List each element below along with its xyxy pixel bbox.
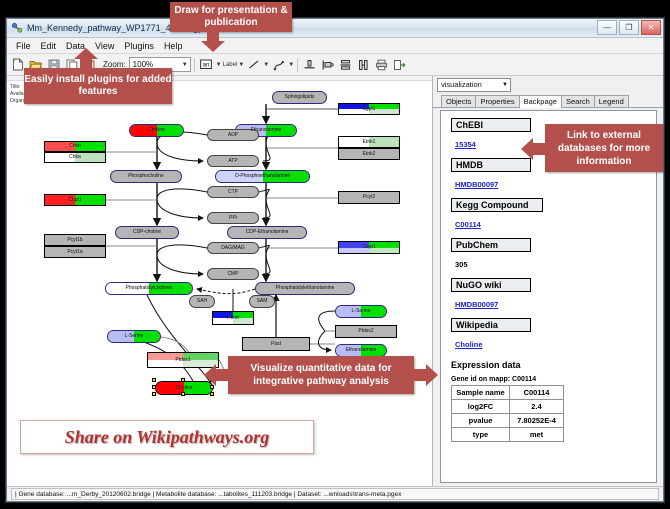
phosphocholine-node[interactable]: Phosphocholine <box>110 170 182 183</box>
sphingolipids-node[interactable]: Sphingolipids <box>272 91 327 104</box>
hmdb-link[interactable]: HMDB00097 <box>455 180 498 189</box>
chebi-link[interactable]: 15354 <box>455 140 476 149</box>
kegg-compound-section-header: Kegg Compound <box>451 198 543 212</box>
chka-gene-box[interactable]: Chka <box>44 152 106 163</box>
callout-link-external-databases: Link to external databases for more info… <box>545 124 663 172</box>
tab-backpage[interactable]: Backpage <box>519 95 562 109</box>
chpt1-gene-box[interactable]: Chpt1 <box>44 194 106 206</box>
pubchem-value: 305 <box>455 260 468 269</box>
status-text: | Gene database: ...m_Derby_20120602.bri… <box>11 488 659 500</box>
gene-id-on-mapp: Gene id on mapp: C00114 <box>451 376 656 383</box>
window-titlebar: Mm_Kennedy_pathway_WP1771_45176.gpml — ❐… <box>7 19 663 38</box>
table-row: log2FC 2.4 <box>452 400 564 414</box>
svg-text:an: an <box>203 62 210 69</box>
chevron-down-icon[interactable]: ▼ <box>263 62 269 68</box>
cdp-choline-node[interactable]: CDP-choline <box>115 226 179 239</box>
etnk2-gene-box[interactable]: Etnk2 <box>338 148 400 160</box>
menu-file[interactable]: File <box>11 40 36 52</box>
menu-help[interactable]: Help <box>159 40 188 52</box>
line-icon[interactable] <box>245 56 262 73</box>
datanode-button[interactable]: an ▼ <box>198 56 222 73</box>
callout-arrow-down-draw <box>199 31 227 53</box>
callout-arrow-left-visualize <box>204 364 230 386</box>
ptdss2-gene-box[interactable]: Ptdss2 <box>335 325 397 338</box>
sgpl1-gene-box[interactable]: Sgpl1 <box>338 103 400 115</box>
callout-text: Draw for presentation & publication <box>170 5 292 29</box>
interaction-button[interactable]: ▼ <box>270 56 294 73</box>
ctp-node[interactable]: CTP <box>207 186 259 198</box>
line-button[interactable]: ▼ <box>245 56 269 73</box>
callout-text: Link to external databases for more info… <box>545 129 663 168</box>
callout-draw-for-publication: Draw for presentation & publication <box>170 2 292 32</box>
tab-legend[interactable]: Legend <box>594 95 629 108</box>
cdp-ethanolamine-node[interactable]: CDP-Ethanolamine <box>227 226 307 239</box>
table-row: Sample name C00114 <box>452 386 564 400</box>
ppi-node[interactable]: PPi <box>207 212 259 224</box>
printer-icon[interactable] <box>373 56 390 73</box>
export-icon[interactable] <box>391 56 408 73</box>
label-button[interactable]: Label ▼ <box>223 62 245 68</box>
row-value: met <box>510 428 564 442</box>
row-key: pvalue <box>452 414 510 428</box>
status-bar: | Gene database: ...m_Derby_20120602.bri… <box>7 486 663 501</box>
menu-plugins[interactable]: Plugins <box>119 40 159 52</box>
pcyt1a-gene-box[interactable]: Pcyt1a <box>44 246 106 258</box>
cmp-node[interactable]: CMP <box>207 268 259 280</box>
menu-edit[interactable]: Edit <box>36 40 62 52</box>
tab-objects[interactable]: Objects <box>441 95 476 108</box>
visualization-combo[interactable]: visualization ▼ <box>437 78 511 92</box>
chevron-down-icon[interactable]: ▼ <box>216 62 222 68</box>
nugo-wiki-section-header: NuGO wiki <box>451 278 531 292</box>
row-value: 7.80252E-4 <box>510 414 564 428</box>
wikipedia-section-header: Wikipedia <box>451 318 531 332</box>
screenshot-root: Mm_Kennedy_pathway_WP1771_45176.gpml — ❐… <box>0 0 670 509</box>
maximize-button[interactable]: ❐ <box>619 20 639 35</box>
l-serine-node-left[interactable]: L-Serine <box>107 330 161 343</box>
l-serine-node-right[interactable]: L-Serine <box>335 305 387 318</box>
minimize-button[interactable]: — <box>597 20 617 35</box>
row-value: 2.4 <box>510 400 564 414</box>
toolbar-separator <box>194 58 195 72</box>
tab-search[interactable]: Search <box>561 95 595 108</box>
dagmag-node[interactable]: DAG/MAG <box>207 242 259 254</box>
align-left-icon[interactable] <box>319 56 336 73</box>
pcyt2-gene-box[interactable]: Pcyt2 <box>338 191 400 204</box>
close-button[interactable]: ✕ <box>641 20 661 35</box>
visualization-value: visualization <box>441 80 482 89</box>
table-row: pvalue 7.80252E-4 <box>452 414 564 428</box>
tab-properties[interactable]: Properties <box>475 95 519 108</box>
visualization-row: visualization ▼ <box>433 76 663 93</box>
expression-data-heading: Expression data <box>451 360 656 370</box>
row-value: C00114 <box>510 386 564 400</box>
table-row: type met <box>452 428 564 442</box>
chevron-down-icon[interactable]: ▼ <box>288 62 294 68</box>
row-key: log2FC <box>452 400 510 414</box>
side-panel-tabs: Objects Properties Backpage Search Legen… <box>433 93 663 108</box>
pubchem-section-header: PubChem <box>451 238 531 252</box>
choline-node-top[interactable]: Choline <box>129 124 184 137</box>
canvas-title-label: Title: <box>10 84 21 90</box>
callout-text: Easily install plugins for added feature… <box>24 74 172 98</box>
callout-install-plugins: Easily install plugins for added feature… <box>24 68 172 104</box>
phosphatidylethanolamine-node[interactable]: Phosphatidylethanolamine <box>255 282 355 295</box>
interaction-icon[interactable] <box>270 56 287 73</box>
stack-vertical-icon[interactable] <box>337 56 354 73</box>
align-top-icon[interactable] <box>301 56 318 73</box>
wikipedia-link[interactable]: Choline <box>455 340 483 349</box>
etnk1-gene-box[interactable]: Etnk1 <box>338 136 400 148</box>
pisd-gene-box[interactable]: Pisd <box>242 337 310 351</box>
callout-text: Visualize quantitative data for integrat… <box>228 362 414 388</box>
chkb-gene-box[interactable]: Chkb <box>44 141 106 152</box>
window-controls: — ❐ ✕ <box>597 20 661 35</box>
pcyt1b-gene-box[interactable]: Pcyt1b <box>44 234 106 246</box>
datanode-icon[interactable]: an <box>198 56 215 73</box>
share-on-wikipathways-banner: Share on Wikipathways.org <box>20 420 314 454</box>
kegg-compound-link[interactable]: C00114 <box>455 220 481 229</box>
chevron-down-icon: ▼ <box>182 62 188 68</box>
atp-node[interactable]: ATP <box>207 155 259 167</box>
callout-visualize-quantitative-data: Visualize quantitative data for integrat… <box>228 356 414 394</box>
hmdb-section-header: HMDB <box>451 158 531 172</box>
pathvisio-icon <box>11 22 23 34</box>
nugo-wiki-link[interactable]: HMDB00097 <box>455 300 498 309</box>
pemt-gene-box[interactable]: Pemt <box>212 311 254 325</box>
canvas-availability-label: Availa <box>10 91 24 97</box>
callout-arrow-up-plugins <box>72 48 100 70</box>
callout-arrow-left-databases <box>521 138 547 160</box>
row-key: type <box>452 428 510 442</box>
sah-node[interactable]: SAH <box>189 295 215 308</box>
row-key: Sample name <box>452 386 510 400</box>
o-phosphoethanolamine-node[interactable]: O-Phosphoethanolamine <box>215 170 310 183</box>
menu-bar: File Edit Data View Plugins Help <box>7 38 663 54</box>
cept1-gene-box[interactable]: Cept1 <box>338 241 400 254</box>
common-width-icon[interactable] <box>355 56 372 73</box>
callout-arrow-right-visualize <box>412 364 438 386</box>
toolbar-separator <box>297 58 298 72</box>
label-button-text: Label <box>223 62 238 68</box>
canvas-organism-label: Organ <box>10 98 24 104</box>
phosphatidylcholines-node[interactable]: Phosphatidylcholines <box>105 282 193 295</box>
share-banner-text: Share on Wikipathways.org <box>65 427 270 448</box>
chevron-down-icon: ▼ <box>502 82 508 88</box>
expression-data-table: Sample name C00114 log2FC 2.4 pvalue 7.8… <box>451 385 564 442</box>
chebi-section-header: ChEBI <box>451 118 531 132</box>
chevron-down-icon[interactable]: ▼ <box>238 62 244 68</box>
sam-node[interactable]: SAM <box>249 295 275 308</box>
